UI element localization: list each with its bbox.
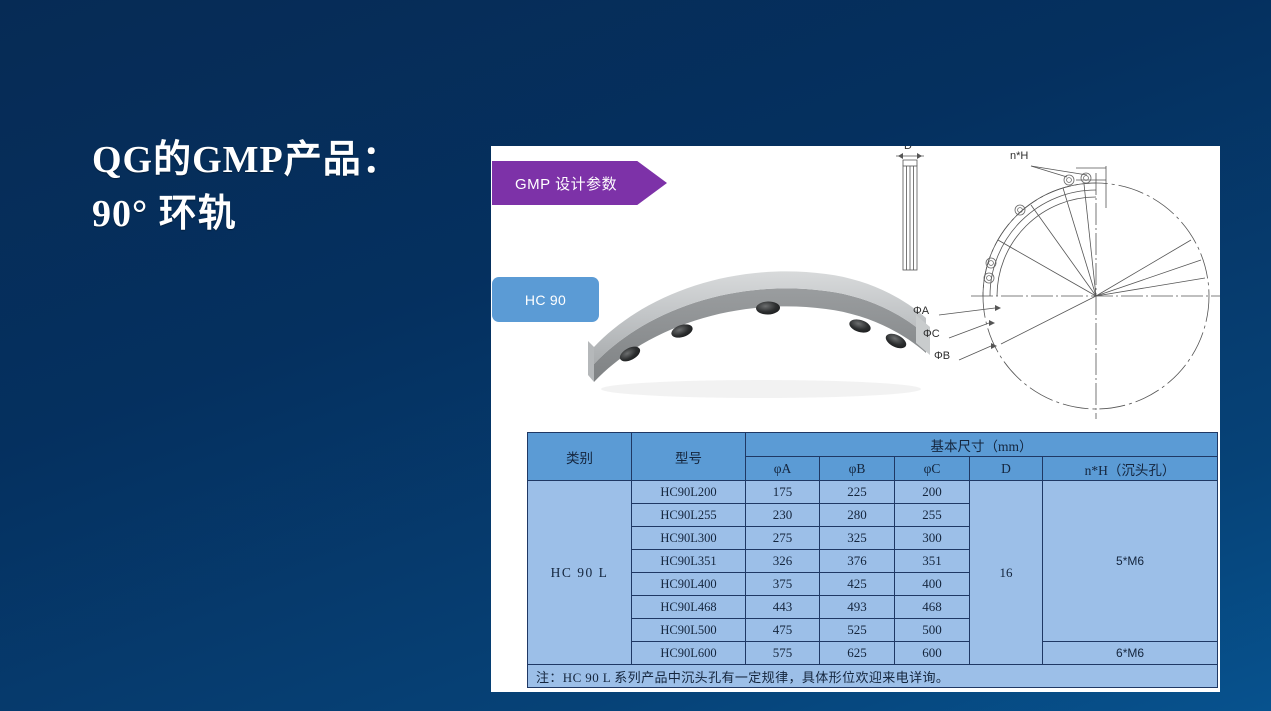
table-row: HC 90 L HC90L200 175 225 200 16 5*M6: [528, 481, 1218, 504]
th-phi-b: φB: [820, 457, 895, 481]
drawing-label-phiA: ΦA: [913, 305, 929, 317]
cell-phi-b: 493: [820, 596, 895, 619]
table-note: 注：HC 90 L 系列产品中沉头孔有一定规律，具体形位欢迎来电详询。: [528, 665, 1218, 688]
drawing-label-nH: n*H: [1010, 150, 1028, 162]
cell-phi-b: 525: [820, 619, 895, 642]
cell-phi-c: 300: [895, 527, 970, 550]
cell-category: HC 90 L: [528, 481, 632, 665]
cell-model: HC90L200: [632, 481, 746, 504]
cell-phi-b: 425: [820, 573, 895, 596]
gmp-parameters-banner: GMP 设计参数: [492, 161, 667, 205]
th-d: D: [970, 457, 1043, 481]
cell-model: HC90L300: [632, 527, 746, 550]
th-phi-a: φA: [746, 457, 820, 481]
cell-model: HC90L500: [632, 619, 746, 642]
th-model: 型号: [632, 433, 746, 481]
th-basic-dimensions: 基本尺寸（mm）: [746, 433, 1218, 457]
table-note-row: 注：HC 90 L 系列产品中沉头孔有一定规律，具体形位欢迎来电详询。: [528, 665, 1218, 688]
slide-canvas: QG的GMP产品： 90° 环轨 GMP 设计参数 HC 90: [0, 0, 1271, 711]
product-photo-curved-rail: [586, 271, 936, 401]
cell-phi-a: 475: [746, 619, 820, 642]
cell-phi-b: 325: [820, 527, 895, 550]
cell-phi-c: 400: [895, 573, 970, 596]
cell-model: HC90L400: [632, 573, 746, 596]
th-nh: n*H（沉头孔）: [1043, 457, 1218, 481]
cell-phi-a: 275: [746, 527, 820, 550]
cell-phi-a: 443: [746, 596, 820, 619]
cell-phi-c: 200: [895, 481, 970, 504]
cell-d: 16: [970, 481, 1043, 665]
th-phi-c: φC: [895, 457, 970, 481]
cell-phi-a: 175: [746, 481, 820, 504]
cell-phi-a: 375: [746, 573, 820, 596]
cell-model: HC90L600: [632, 642, 746, 665]
drawing-label-D: D: [904, 146, 912, 152]
cell-phi-c: 500: [895, 619, 970, 642]
th-category: 类别: [528, 433, 632, 481]
cell-model: HC90L351: [632, 550, 746, 573]
spec-table-body: HC 90 L HC90L200 175 225 200 16 5*M6 HC9…: [528, 481, 1218, 688]
table-header-row-1: 类别 型号 基本尺寸（mm）: [528, 433, 1218, 457]
cell-model: HC90L468: [632, 596, 746, 619]
cell-phi-b: 625: [820, 642, 895, 665]
cell-phi-a: 230: [746, 504, 820, 527]
technical-drawing: D n*H ΦA ΦC ΦB: [891, 148, 1220, 423]
cell-nh-group-2: 6*M6: [1043, 642, 1218, 665]
spec-table-container: 类别 型号 基本尺寸（mm） φA φB φC D n*H（沉头孔） HC 90: [527, 432, 1217, 688]
cell-phi-c: 351: [895, 550, 970, 573]
cell-model: HC90L255: [632, 504, 746, 527]
cell-phi-a: 575: [746, 642, 820, 665]
cell-phi-b: 225: [820, 481, 895, 504]
gmp-banner-label: GMP 设计参数: [515, 173, 617, 194]
table-row: HC90L600 575 625 600 6*M6: [528, 642, 1218, 665]
cell-nh-group-1: 5*M6: [1043, 481, 1218, 642]
drawing-label-phiB: ΦB: [934, 350, 950, 362]
cell-phi-b: 376: [820, 550, 895, 573]
cell-phi-b: 280: [820, 504, 895, 527]
page-title: QG的GMP产品： 90° 环轨: [92, 134, 472, 242]
content-panel: GMP 设计参数 HC 90: [491, 146, 1220, 692]
cell-phi-a: 326: [746, 550, 820, 573]
drawing-label-phiC: ΦC: [923, 328, 940, 340]
spec-table: 类别 型号 基本尺寸（mm） φA φB φC D n*H（沉头孔） HC 90: [527, 432, 1218, 688]
series-chip-label: HC 90: [525, 292, 566, 308]
series-chip-hc90[interactable]: HC 90: [492, 277, 599, 322]
cell-phi-c: 600: [895, 642, 970, 665]
cell-phi-c: 468: [895, 596, 970, 619]
cell-phi-c: 255: [895, 504, 970, 527]
